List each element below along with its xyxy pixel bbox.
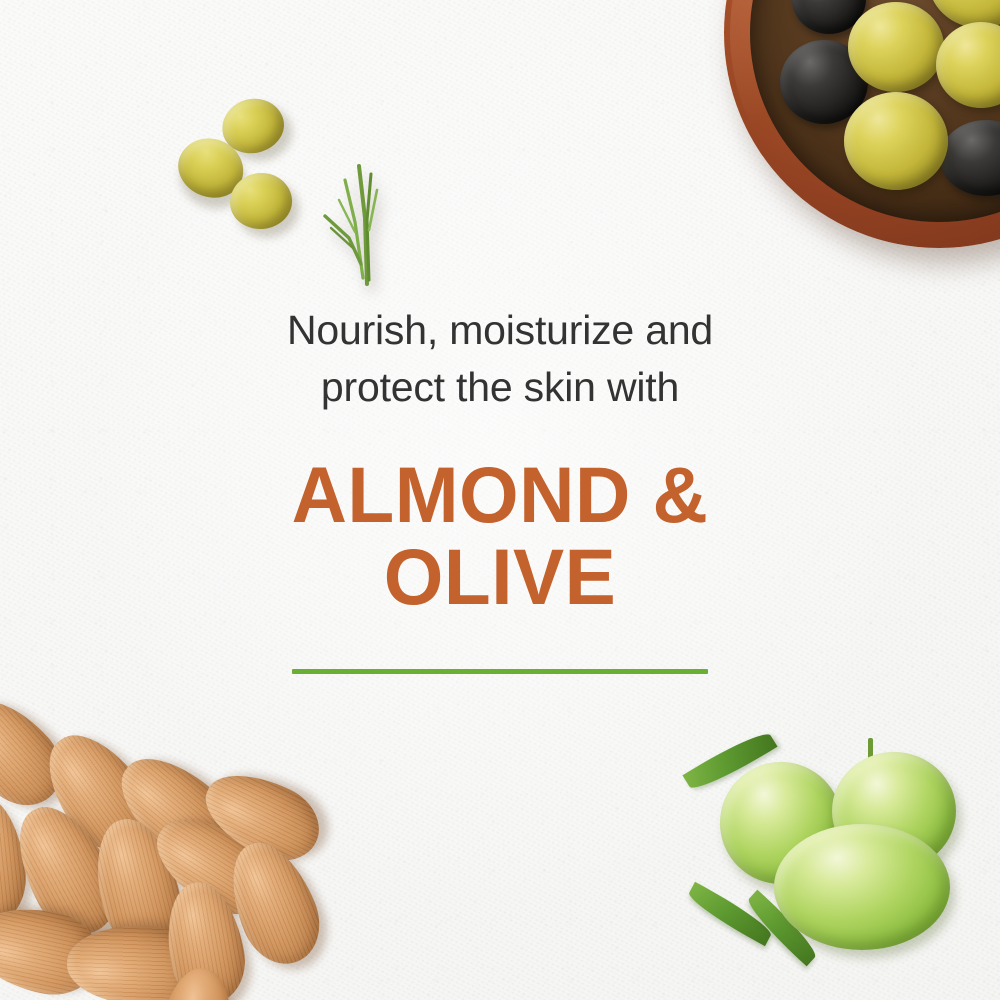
page-title: ALMOND & OLIVE [15, 454, 985, 618]
loose-olives-group [170, 95, 330, 255]
rosemary-sprig-icon [315, 160, 395, 290]
product-banner: Nourish, moisturize and protect the skin… [0, 0, 1000, 1000]
bowl-interior [750, 0, 1000, 222]
olive-bowl [724, 0, 1000, 248]
subheading-text: Nourish, moisturize and protect the skin… [0, 302, 1000, 416]
green-olive-icon [848, 2, 944, 92]
green-olives-group [690, 720, 990, 980]
headline-block: Nourish, moisturize and protect the skin… [0, 302, 1000, 618]
almond-cluster [0, 690, 370, 1000]
green-olive-icon [936, 22, 1000, 108]
green-olive-icon [774, 824, 950, 950]
green-divider-rule [292, 669, 708, 674]
green-olive-icon [844, 92, 948, 190]
black-olive-icon [940, 120, 1000, 196]
